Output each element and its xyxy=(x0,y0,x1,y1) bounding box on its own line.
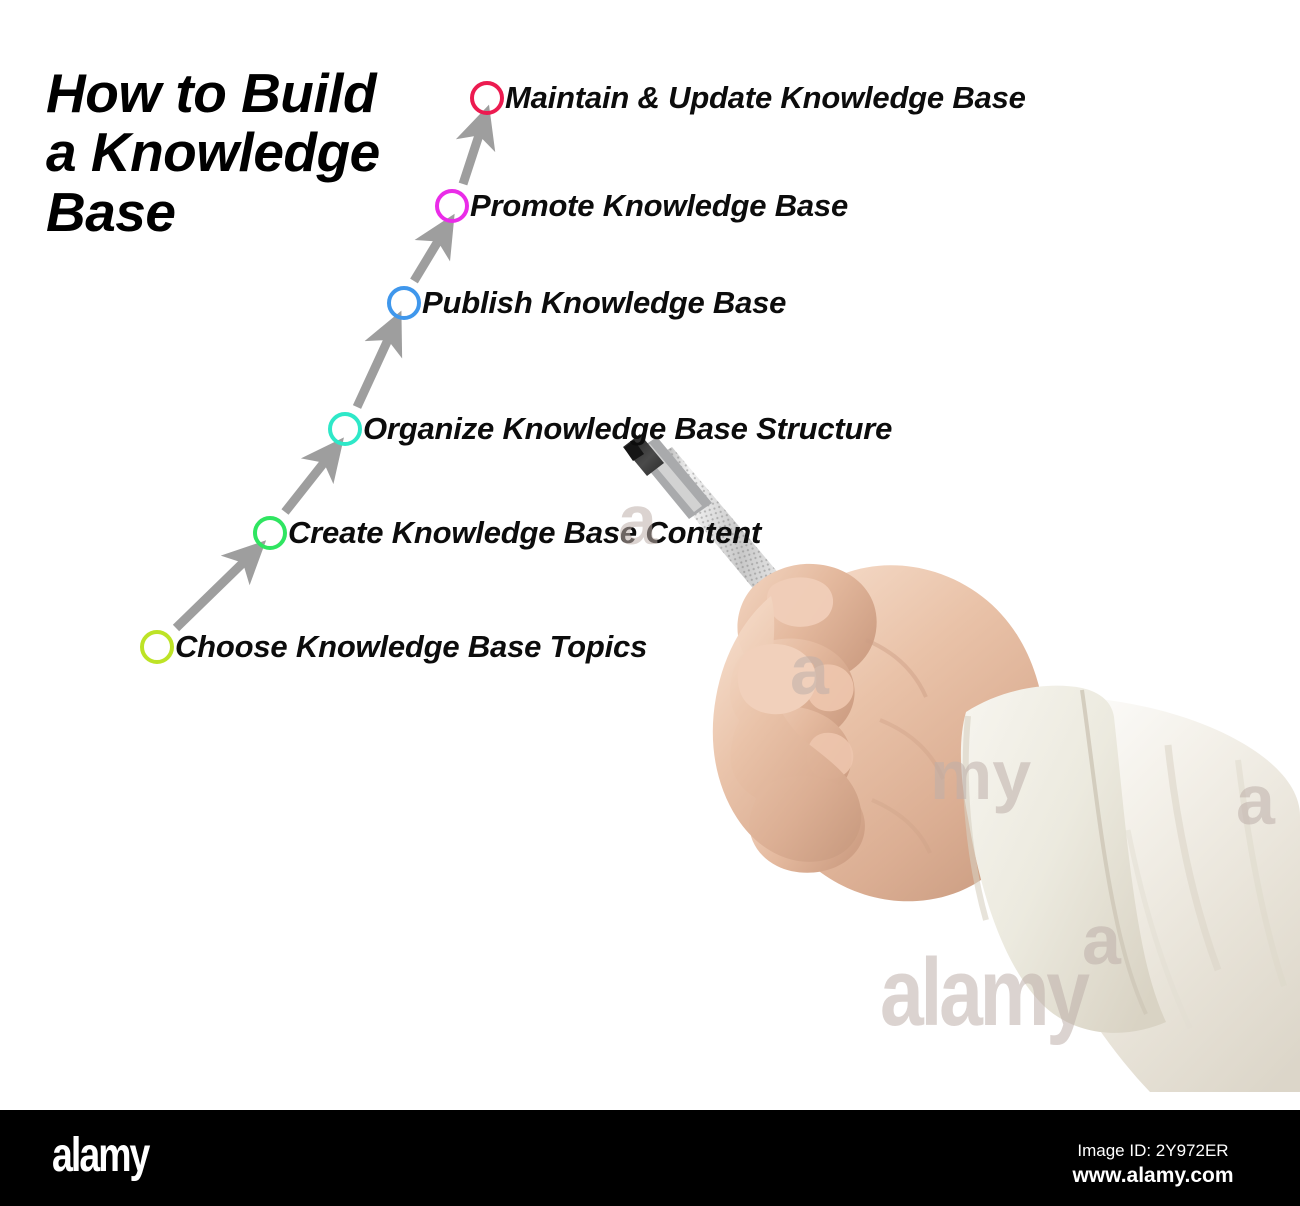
alamy-logo: alamy xyxy=(52,1128,148,1183)
step-item[interactable]: Choose Knowledge Base Topics xyxy=(140,625,647,669)
step-label: Organize Knowledge Base Structure xyxy=(363,411,892,447)
arrow-step2-to-step3 xyxy=(285,455,330,512)
arrow-step4-to-step5 xyxy=(414,233,443,281)
arrow-step1-to-step2 xyxy=(176,556,250,628)
step-item[interactable]: Maintain & Update Knowledge Base xyxy=(470,76,1026,120)
step-item[interactable]: Create Knowledge Base Content xyxy=(253,511,761,555)
step-label: Create Knowledge Base Content xyxy=(288,515,761,551)
step-bullet-icon xyxy=(140,630,174,664)
step-label: Choose Knowledge Base Topics xyxy=(175,629,647,665)
arrow-step5-to-step6 xyxy=(463,126,482,184)
step-bullet-icon xyxy=(435,189,469,223)
step-bullet-icon xyxy=(470,81,504,115)
watermark-letter: a xyxy=(618,480,657,560)
step-bullet-icon xyxy=(328,412,362,446)
footer-credits: Image ID: 2Y972ER www.alamy.com xyxy=(1028,1140,1278,1190)
site-url-text[interactable]: www.alamy.com xyxy=(1028,1163,1278,1189)
screenshot-canvas: How to Build a Knowledge Base xyxy=(0,0,1300,1206)
watermark-letter: a xyxy=(1082,900,1121,980)
step-item[interactable]: Publish Knowledge Base xyxy=(387,281,786,325)
image-id-text: Image ID: 2Y972ER xyxy=(1028,1140,1278,1161)
arrow-step3-to-step4 xyxy=(357,331,392,407)
watermark-letter: a xyxy=(1236,760,1275,840)
step-label: Publish Knowledge Base xyxy=(422,285,786,321)
step-item[interactable]: Promote Knowledge Base xyxy=(435,184,848,228)
watermark-word: my xyxy=(930,735,1031,815)
step-label: Maintain & Update Knowledge Base xyxy=(505,80,1026,116)
watermark-word: alamy xyxy=(880,938,1087,1048)
step-bullet-icon xyxy=(387,286,421,320)
step-item[interactable]: Organize Knowledge Base Structure xyxy=(328,407,892,451)
step-label: Promote Knowledge Base xyxy=(470,188,848,224)
step-bullet-icon xyxy=(253,516,287,550)
watermark-letter: a xyxy=(790,630,829,710)
